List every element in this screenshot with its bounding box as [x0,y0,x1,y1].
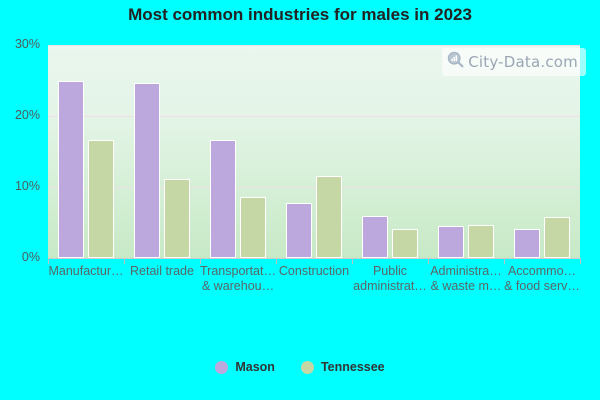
x-axis-label: Transportat…& warehou… [194,264,282,294]
plot-area [48,45,580,258]
x-axis-label-line: administrat… [346,279,434,294]
watermark-text: City-Data.com [468,53,578,71]
chart-title: Most common industries for males in 2023 [0,5,600,25]
chart-legend: MasonTennessee [0,360,600,374]
gridline [48,45,580,46]
x-axis-label: Retail trade [118,264,206,279]
chart-container: Most common industries for males in 2023… [0,0,600,400]
x-axis-label-line: Public [346,264,434,279]
legend-swatch [301,361,314,374]
bar [88,140,114,258]
x-axis-line [48,258,580,259]
bar [468,225,494,258]
legend-item[interactable]: Mason [215,360,275,374]
bar [362,216,388,258]
x-axis-label-line: & warehou… [194,279,282,294]
bar [438,226,464,258]
bar [240,197,266,258]
bar [544,217,570,258]
legend-label: Tennessee [321,360,385,374]
x-axis-label-line: Administra… [422,264,510,279]
x-axis-label-line: Manufactur… [42,264,130,279]
gridline [48,116,580,117]
x-axis-label: Accommo…& food serv… [498,264,586,294]
x-axis-label-line: & waste m… [422,279,510,294]
bar [134,83,160,258]
bar [164,179,190,258]
x-axis-label-line: Retail trade [118,264,206,279]
x-axis-label-line: & food serv… [498,279,586,294]
y-axis-labels: 0%10%20%30% [0,0,44,400]
legend-label: Mason [235,360,275,374]
bar [210,140,236,258]
legend-item[interactable]: Tennessee [301,360,385,374]
x-axis-label-line: Transportat… [194,264,282,279]
watermark: City-Data.com [442,48,586,76]
bar [392,229,418,258]
y-tick-label: 20% [0,108,40,122]
x-axis-label-line: Construction [270,264,358,279]
x-axis-label: Publicadministrat… [346,264,434,294]
x-axis-label: Manufactur… [42,264,130,279]
y-tick-label: 10% [0,179,40,193]
bar [58,81,84,258]
magnifier-bar-chart-icon [447,51,464,73]
x-axis-label: Administra…& waste m… [422,264,510,294]
y-tick-label: 30% [0,37,40,51]
x-axis-label: Construction [270,264,358,279]
bar [514,229,540,258]
gridline [48,187,580,188]
x-axis-label-line: Accommo… [498,264,586,279]
bar [316,176,342,258]
bar [286,203,312,258]
y-tick-label: 0% [0,250,40,264]
x-axis-labels: Manufactur…Retail tradeTransportat…& war… [0,264,600,314]
legend-swatch [215,361,228,374]
